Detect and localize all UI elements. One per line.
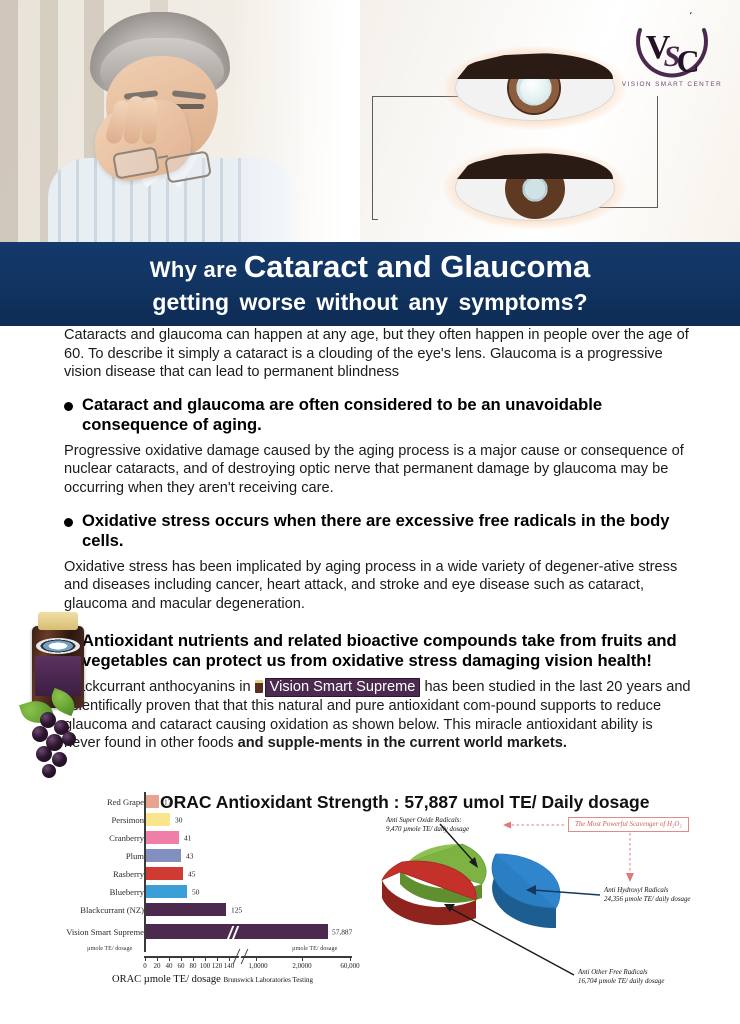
product-name-highlight: Vision Smart Supreme	[265, 678, 421, 697]
logo-subtitle: VISION SMART CENTER	[622, 81, 722, 88]
bar-value-label: 125	[231, 905, 242, 914]
bar-category-label: Red Grape	[107, 797, 144, 807]
connector-line-vertical	[372, 96, 373, 220]
pie-label-hydroxyl-value: 24,356 µmole TE/ daily dosage	[604, 895, 690, 904]
section-heading-1: Cataract and glaucoma are often consider…	[0, 395, 740, 435]
axis-tick-label: 0	[143, 962, 147, 970]
section-heading-3: Antioxidant nutrients and related bioact…	[0, 631, 740, 671]
axis-tick	[350, 956, 351, 961]
x-axis-title: ORAC µmole TE/ dosage Brunswick Laborato…	[112, 974, 313, 985]
bar	[145, 849, 181, 862]
axis-tick-label: 60,000	[340, 962, 359, 970]
banner-emphasis: Cataract and Glaucoma	[244, 249, 590, 284]
pie-label-hydroxyl: Anti Hydroxyl Radicals 24,356 µmole TE/ …	[604, 886, 690, 904]
bar-category-label: Rasberry	[113, 869, 144, 879]
lens-left	[112, 146, 160, 179]
section-3-text-bold: and supple-ments in the current world ma…	[238, 735, 567, 751]
berry	[52, 752, 67, 767]
bar	[145, 903, 226, 916]
intro-paragraph: Cataracts and glaucoma can happen at any…	[0, 326, 740, 382]
bar-value-label: 41	[184, 833, 191, 842]
pie-label-other-title: Anti Other Free Radicals	[578, 968, 664, 977]
x-axis-ticks: 0 20 40 60 80 100 120 140 1,0000 2,0000 …	[30, 956, 374, 976]
section-heading-3-text: Antioxidant nutrients and related bioact…	[82, 631, 696, 671]
bar-row: Blueberry 50	[30, 884, 374, 899]
bar-category-label: Persimon	[112, 815, 144, 825]
callout-leader-down	[626, 833, 634, 882]
bar-row: Red Grape 17	[30, 794, 374, 809]
berry	[36, 746, 52, 762]
bar-category-label: Blackcurrant (NZ)	[80, 905, 144, 915]
finger	[141, 98, 158, 144]
section-body-3: Blackcurrant anthocyanins in Vision Smar…	[0, 678, 740, 752]
bar-value-label: 45	[188, 869, 195, 878]
bottle-eye-image	[36, 638, 80, 654]
article-content: Cataracts and glaucoma can happen at any…	[0, 326, 740, 753]
brand-logo: V S C VISION SMART CENTER	[618, 12, 726, 92]
axis-tick-label: 80	[190, 962, 197, 970]
hero-photo	[0, 0, 360, 242]
pie-label-hydroxyl-title: Anti Hydroxyl Radicals	[604, 886, 690, 895]
bar-category-label: Plum	[126, 851, 144, 861]
bar-row: Rasberry 45	[30, 866, 374, 881]
section-body-2: Oxidative stress has been implicated by …	[0, 558, 740, 614]
radical-scavenging-pie-chart: Anti Super Oxide Radicals: 9,470 µmole T…	[378, 800, 740, 1024]
banner-prefix: Why are	[150, 257, 238, 282]
axis-tick-label: 2,0000	[292, 962, 311, 970]
axis-tick-label: 100	[200, 962, 211, 970]
bottle-icon	[255, 680, 263, 693]
section-heading-1-text: Cataract and glaucoma are often consider…	[82, 395, 696, 435]
bar-category-label: Blueberry	[110, 887, 144, 897]
banner-line-1: Why are Cataract and Glaucoma	[0, 242, 740, 282]
bar	[145, 795, 159, 808]
axis-tick	[193, 956, 194, 961]
connector-line-right-vertical	[657, 96, 658, 208]
axis-tick	[217, 956, 218, 961]
bottle-cap	[38, 612, 78, 630]
x-axis-title-main: ORAC µmole TE/ dosage	[112, 974, 221, 985]
bar-row: Plum 43	[30, 848, 374, 863]
bar	[145, 885, 187, 898]
hero-section: V S C VISION SMART CENTER	[0, 0, 740, 242]
axis-tick	[256, 956, 257, 961]
bar-row: Blackcurrant (NZ) 125	[30, 902, 374, 917]
berry	[42, 764, 56, 778]
axis-tick-label: 40	[166, 962, 173, 970]
photo-fade	[230, 0, 360, 242]
bar-category-label: Vision Smart Supreme	[66, 927, 144, 937]
berry	[62, 732, 76, 746]
bar-value-label: 43	[186, 851, 193, 860]
pie-svg	[378, 800, 740, 1024]
y-axis-line	[144, 792, 146, 952]
bar-value-label: 30	[175, 815, 182, 824]
bar	[145, 867, 183, 880]
charts-section: ORAC Antioxidant Strength : 57,887 umol …	[0, 786, 740, 1024]
bar	[145, 831, 179, 844]
product-bottle-graphic	[10, 604, 102, 784]
bar-value-label: 17	[164, 797, 171, 806]
bar-row: Persimon 30	[30, 812, 374, 827]
bar-value-label: 50	[192, 887, 199, 896]
x-axis-title-sub: Brunswick Laboratories Testing	[223, 976, 313, 984]
section-heading-2-text: Oxidative stress occurs when there are e…	[82, 511, 696, 551]
bar-category-label: Cranberry	[109, 833, 144, 843]
bullet-dot-icon	[64, 518, 73, 527]
axis-tick-label: 120	[212, 962, 223, 970]
orac-bar-chart: Red Grape 17 Persimon 30 Cranberry 41 Pl…	[30, 786, 374, 998]
axis-tick	[205, 956, 206, 961]
axis-tick-label: 1,0000	[248, 962, 267, 970]
bullet-dot-icon	[64, 402, 73, 411]
axis-tick	[229, 956, 230, 961]
banner-line-2: getting worse without any symptoms?	[0, 289, 740, 316]
bar-row: Vision Smart Supreme 57,887	[30, 922, 374, 941]
glaucoma-eye-illustration	[455, 155, 615, 221]
axis-tick	[145, 956, 146, 961]
vsc-logo-icon: V S C VISION SMART CENTER	[618, 12, 726, 92]
svg-text:C: C	[676, 43, 699, 79]
section-heading-2: Oxidative stress occurs when there are e…	[0, 511, 740, 551]
axis-tick	[169, 956, 170, 961]
section-body-1: Progressive oxidative damage caused by t…	[0, 442, 740, 498]
bar-row: Cranberry 41	[30, 830, 374, 845]
eyeglasses	[114, 148, 234, 178]
bar	[145, 813, 170, 826]
axis-tick-label: 20	[154, 962, 161, 970]
bar-value-label: 57,887	[332, 927, 352, 936]
connector-line-bottom-horizontal	[372, 219, 378, 220]
axis-tick-label: 60	[178, 962, 185, 970]
callout-leader-left	[503, 822, 564, 829]
axis-tick	[157, 956, 158, 961]
axis-tick	[181, 956, 182, 961]
axis-tick	[302, 956, 303, 961]
bar-unit-left: µmole TE/ dosage	[87, 945, 132, 952]
pie-label-other: Anti Other Free Radicals 16,704 µmole TE…	[578, 968, 664, 986]
pie-label-other-value: 16,704 µmole TE/ daily dosage	[578, 977, 664, 986]
title-banner: Why are Cataract and Glaucoma getting wo…	[0, 242, 740, 326]
bar-unit-right: µmole TE/ dosage	[292, 945, 337, 952]
cataract-eye-illustration	[455, 55, 615, 121]
